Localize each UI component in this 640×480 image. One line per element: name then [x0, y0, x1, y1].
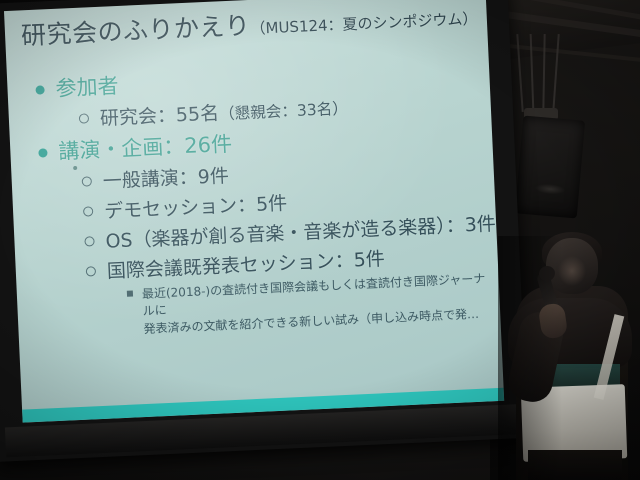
- slide-title-sub: （MUS124：夏のシンポジウム）: [250, 10, 478, 38]
- screenshot-stage: 研究会のふりかえり（MUS124：夏のシンポジウム） 参加者 研究会：55名 （…: [0, 0, 640, 480]
- hollow-circle-bullet-icon: [84, 236, 94, 246]
- bullet-text: 講演・企画：26件: [58, 128, 233, 166]
- presenter-legs: [528, 450, 622, 480]
- hollow-circle-bullet-icon: [79, 113, 89, 123]
- speaker-logo: [535, 183, 566, 196]
- hollow-circle-bullet-icon: [83, 206, 93, 216]
- bullet-text: 研究会：55名: [99, 98, 219, 130]
- bullet-text: 一般講演：9件: [102, 161, 229, 194]
- filled-dot-bullet-icon: [35, 85, 44, 94]
- projection-screen: 研究会のふりかえり（MUS124：夏のシンポジウム） 参加者 研究会：55名 （…: [0, 0, 528, 472]
- bullet-text-block: 最近(2018-)の査読付き国際会議もしくは査読付き国際ジャーナルに 発表済みの…: [142, 270, 493, 338]
- filled-dot-bullet-icon: [38, 148, 47, 157]
- bullet-text: デモセッション：5件: [104, 188, 288, 223]
- speaker-suspension-cables: [515, 34, 567, 112]
- slide-title: 研究会のふりかえり（MUS124：夏のシンポジウム）: [20, 0, 473, 52]
- projected-slide: 研究会のふりかえり（MUS124：夏のシンポジウム） 参加者 研究会：55名 （…: [4, 0, 504, 423]
- filled-square-bullet-icon: [127, 291, 133, 297]
- presenter-silhouette: [498, 236, 640, 480]
- slide-bullet-list: 参加者 研究会：55名 （懇親会：33名） 講演・企画：26件 一般講演：9件: [21, 52, 493, 344]
- pa-speaker: [515, 115, 585, 218]
- hollow-circle-bullet-icon: [82, 176, 92, 186]
- slide-title-main: 研究会のふりかえり: [20, 11, 251, 50]
- bullet-text: 参加者: [55, 70, 119, 103]
- hollow-circle-bullet-icon: [86, 266, 96, 276]
- bullet-note: （懇親会：33名）: [219, 97, 349, 125]
- presenter-face: [558, 256, 586, 286]
